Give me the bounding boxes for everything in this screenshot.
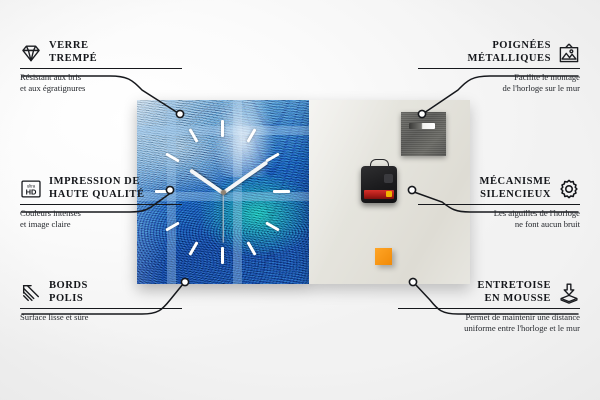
callout-divider: [398, 308, 580, 309]
callout-poignees-metalliques: POIGNÉES MÉTALLIQUES Facilite le montage…: [418, 40, 580, 93]
callout-impression-haute-qualite: ultra HD IMPRESSION DE HAUTE QUALITÉ Cou…: [20, 176, 182, 229]
callout-header: ENTRETOISE EN MOUSSE: [398, 280, 580, 305]
picture-frame-hanger-icon: [558, 42, 580, 64]
callout-description-line1: Permet de maintenir une distance: [398, 312, 580, 323]
callout-verre-trempe: VERRE TREMPÉ Résistant aux bris et aux é…: [20, 40, 182, 93]
hanger-slot: [409, 123, 435, 129]
callout-divider: [20, 68, 182, 69]
callout-description-line2: et image claire: [20, 219, 182, 230]
mechanism-dial: [384, 174, 393, 183]
clock-tick: [221, 247, 224, 264]
callout-divider: [20, 204, 182, 205]
foam-spacer: [375, 248, 392, 265]
ultra-hd-icon: ultra HD: [20, 178, 42, 200]
clock-second-hand: [222, 193, 223, 243]
callout-bords-polis: BORDS POLIS Surface lisse et sûre: [20, 280, 182, 323]
callout-description-line2: uniforme entre l'horloge et le mur: [398, 323, 580, 334]
callout-entretoise-en-mousse: ENTRETOISE EN MOUSSE Permet de maintenir…: [398, 280, 580, 333]
callout-title: IMPRESSION DE HAUTE QUALITÉ: [49, 176, 145, 201]
callout-header: ultra HD IMPRESSION DE HAUTE QUALITÉ: [20, 176, 182, 201]
callout-description-line1: Facilite le montage: [418, 72, 580, 83]
callout-description-line2: de l'horloge sur le mur: [418, 83, 580, 94]
callout-header: POIGNÉES MÉTALLIQUES: [418, 40, 580, 65]
callout-title: MÉCANISME SILENCIEUX: [480, 176, 551, 201]
metal-hanger-plate: [401, 112, 446, 156]
callout-header: MÉCANISME SILENCIEUX: [418, 176, 580, 201]
clock-tick: [221, 120, 224, 137]
polished-edges-icon: [20, 282, 42, 304]
callout-description-line2: et aux égratignures: [20, 83, 182, 94]
diamond-icon: [20, 42, 42, 64]
callout-description-line1: Résistant aux bris: [20, 72, 182, 83]
callout-title: VERRE TREMPÉ: [49, 40, 97, 65]
hanger-grain: [401, 112, 446, 156]
battery: [364, 190, 394, 199]
clock-center-pin: [221, 190, 226, 195]
callout-divider: [418, 204, 580, 205]
battery-plus-terminal: [386, 191, 392, 197]
infographic-canvas: VERRE TREMPÉ Résistant aux bris et aux é…: [0, 0, 600, 400]
gear-icon: [558, 178, 580, 200]
callout-divider: [418, 68, 580, 69]
callout-description-line1: Couleurs intenses: [20, 208, 182, 219]
callout-description-line1: Surface lisse et sûre: [20, 312, 182, 323]
callout-description-line2: ne font aucun bruit: [418, 219, 580, 230]
callout-title: BORDS POLIS: [49, 280, 88, 305]
callout-header: BORDS POLIS: [20, 280, 182, 305]
svg-text:HD: HD: [26, 187, 37, 196]
clock-tick: [273, 190, 290, 193]
callout-title: POIGNÉES MÉTALLIQUES: [468, 40, 551, 65]
foam-spacer-arrow-icon: [558, 282, 580, 304]
callout-description-line1: Les aiguilles de l'horloge: [418, 208, 580, 219]
callout-divider: [20, 308, 182, 309]
callout-header: VERRE TREMPÉ: [20, 40, 182, 65]
clock-mechanism: [361, 166, 397, 203]
callout-title: ENTRETOISE EN MOUSSE: [477, 280, 551, 305]
callout-mecanisme-silencieux: MÉCANISME SILENCIEUX Les aiguilles de l'…: [418, 176, 580, 229]
mechanism-hook-icon: [370, 159, 389, 169]
